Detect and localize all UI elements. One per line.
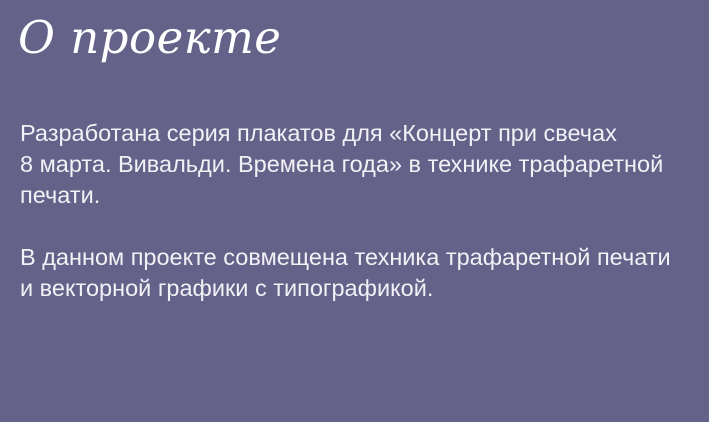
paragraph-project-description: Разработана серия плакатов для «Концерт … bbox=[20, 118, 700, 211]
about-body: Разработана серия плакатов для «Концерт … bbox=[20, 118, 700, 304]
paragraph-spacer bbox=[20, 211, 700, 242]
about-project-panel: О проекте Разработана серия плакатов для… bbox=[0, 0, 709, 422]
page-title: О проекте bbox=[18, 8, 281, 68]
paragraph-project-technique: В данном проекте совмещена техника трафа… bbox=[20, 242, 700, 304]
